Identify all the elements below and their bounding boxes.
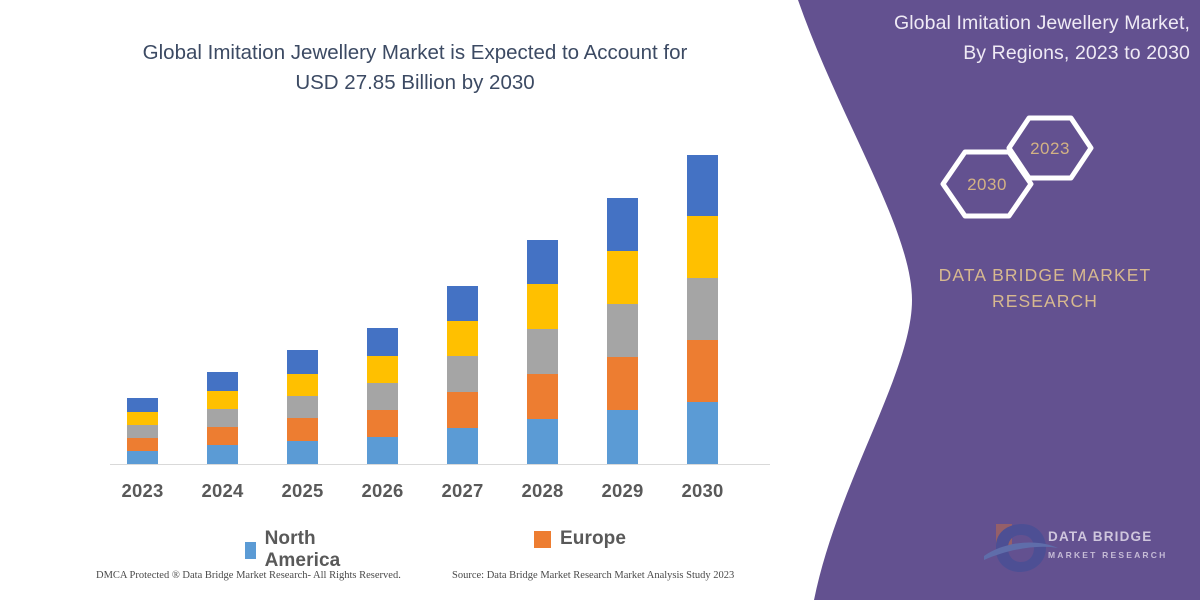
bar-segment-2030-5 [687,155,718,216]
watermark-text: DATA BRIDGE MARKET RESEARCH [1048,528,1198,564]
footer-source: Source: Data Bridge Market Research Mark… [452,570,734,581]
bar-2025[interactable] [287,350,318,464]
x-label-2029: 2029 [583,480,663,502]
bar-segment-2029-5 [607,198,638,251]
bar-segment-2030-1 [687,402,718,464]
bar-segment-2029-1 [607,410,638,464]
hexagon-2023-icon [925,112,1115,242]
brand-name: DATA BRIDGE MARKET RESEARCH [905,262,1185,314]
bar-segment-2029-2 [607,357,638,410]
bar-segment-2028-2 [527,374,558,419]
footer-copyright: DMCA Protected ® Data Bridge Market Rese… [96,570,401,581]
hexagon-2030-label: 2030 [962,175,1012,195]
bar-segment-2025-5 [287,350,318,374]
x-label-2028: 2028 [503,480,583,502]
bar-2030[interactable] [687,155,718,464]
x-label-2027: 2027 [423,480,503,502]
bar-segment-2028-1 [527,419,558,464]
bar-2029[interactable] [607,198,638,464]
bar-segment-2027-4 [447,321,478,356]
x-label-2025: 2025 [263,480,343,502]
hexagon-badges: 2030 2023 [925,112,1115,242]
legend-label-europe: Europe [560,528,626,550]
legend-item-north-america[interactable]: North America [245,528,347,572]
x-label-2030: 2030 [663,480,743,502]
bar-segment-2025-1 [287,441,318,464]
bar-segment-2024-2 [207,427,238,445]
watermark-title: DATA BRIDGE [1048,529,1152,544]
x-axis-line [110,464,770,465]
bar-2028[interactable] [527,240,558,464]
bar-segment-2027-5 [447,286,478,321]
bar-segment-2023-2 [127,438,158,451]
stacked-bar-chart: 20232024202520262027202820292030 [0,0,790,600]
bar-segment-2030-4 [687,216,718,278]
x-label-2024: 2024 [183,480,263,502]
bar-segment-2024-4 [207,391,238,409]
bar-segment-2026-4 [367,356,398,383]
bar-segment-2027-2 [447,392,478,428]
infographic-root: Global Imitation Jewellery Market is Exp… [0,0,1200,600]
bar-segment-2026-3 [367,383,398,410]
legend-swatch-north-america [245,542,256,559]
bar-segment-2029-4 [607,251,638,304]
bar-segment-2030-2 [687,340,718,402]
bar-segment-2023-3 [127,425,158,438]
bar-segment-2028-5 [527,240,558,284]
legend-item-europe[interactable]: Europe [534,528,626,550]
bar-segment-2028-3 [527,329,558,374]
bar-segment-2029-3 [607,304,638,357]
bar-segment-2023-5 [127,398,158,412]
bar-2023[interactable] [127,398,158,464]
bar-2027[interactable] [447,286,478,464]
bar-segment-2025-2 [287,418,318,441]
bar-segment-2025-4 [287,374,318,396]
panel-title: Global Imitation Jewellery Market, By Re… [830,8,1190,68]
legend-swatch-europe [534,531,551,548]
bar-segment-2027-3 [447,356,478,392]
bar-segment-2024-1 [207,445,238,464]
legend-label-north-america: North America [265,528,347,572]
bar-segment-2030-3 [687,278,718,340]
bar-segment-2027-1 [447,428,478,464]
watermark-subtitle: MARKET RESEARCH [1048,547,1198,564]
bar-segment-2024-3 [207,409,238,427]
bar-segment-2028-4 [527,284,558,329]
bar-segment-2026-1 [367,437,398,464]
hexagon-2023-label: 2023 [1025,139,1075,159]
bar-2026[interactable] [367,328,398,464]
bar-segment-2023-4 [127,412,158,425]
x-label-2026: 2026 [343,480,423,502]
bar-segment-2026-2 [367,410,398,437]
bar-segment-2026-5 [367,328,398,356]
bar-segment-2024-5 [207,372,238,391]
bar-segment-2025-3 [287,396,318,418]
bar-segment-2023-1 [127,451,158,464]
bar-2024[interactable] [207,372,238,464]
x-label-2023: 2023 [103,480,183,502]
